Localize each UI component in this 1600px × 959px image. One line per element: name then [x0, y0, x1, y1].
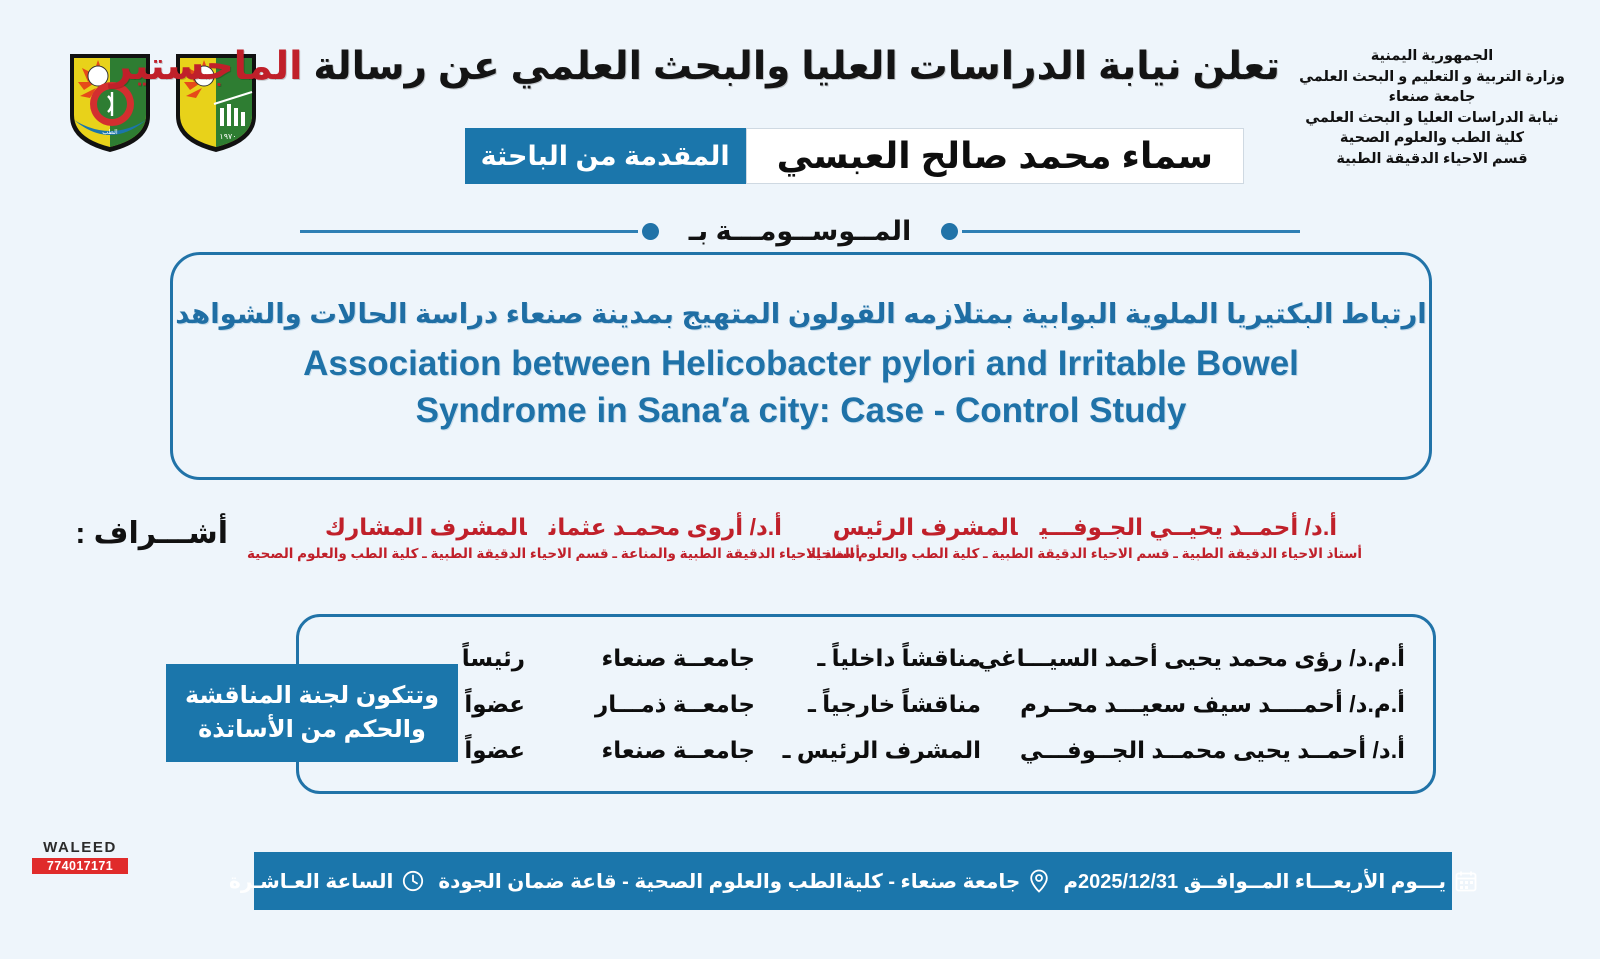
committee-row: أ.د/ أحمــد يحيى محمــد الجــوفـــي المش… [319, 727, 1405, 773]
divider-dot-left [642, 223, 659, 240]
committee-member-role: المشرف الرئيس ـ [755, 737, 1005, 764]
main-supervisor-role: المشرف الرئيس [833, 514, 1018, 540]
clock-icon [402, 870, 424, 892]
researcher-name: سماء محمد صالح العبسي [746, 128, 1244, 184]
thesis-title-box: ارتباط البكتيريا الملوية البوابية بمتلاز… [170, 252, 1432, 480]
committee-label-box: وتتكون لجنة المناقشة والحكم من الأساتذة [166, 664, 458, 762]
supervision-label: أشـــراف : [75, 516, 228, 551]
co-supervisor-affiliation: أستاذ الاحياء الدقيقة الطبية والمناعة ـ … [247, 546, 860, 562]
committee-box: أ.م.د/ رؤى محمد يحيى أحمد السيـــاغي منا… [296, 614, 1436, 794]
committee-member-name: أ.م.د/ رؤى محمد يحيى أحمد السيـــاغي [1005, 645, 1405, 672]
co-supervisor-block: أ.د/ أروى محمـد عثمانالمشرف المشارك أستا… [247, 514, 860, 562]
thesis-title-arabic: ارتباط البكتيريا الملوية البوابية بمتلاز… [175, 298, 1426, 330]
headline-degree-highlight: الماجستير [110, 45, 303, 88]
titled-as-label: المــوســومـــة بـ [663, 216, 937, 247]
ministry-line-1: وزارة التربية و التعليم و البحث العلمي [1282, 67, 1582, 88]
designer-watermark: WALEED 774017171 [32, 840, 128, 874]
event-details-bar: يـــوم الأربعـــاء المــوافــق 2025/12/3… [254, 852, 1452, 910]
ministry-line-4: كلية الطب والعلوم الصحية [1282, 128, 1582, 149]
event-date-text: يـــوم الأربعـــاء المــوافــق 2025/12/3… [1063, 869, 1446, 894]
main-supervisor-name-row: أ.د/ أحمــد يحيــي الجـوفـــيالمشرف الرئ… [808, 514, 1362, 541]
co-supervisor-role: المشرف المشارك [325, 514, 527, 540]
divider-line-right [962, 230, 1300, 233]
committee-member-university: جامعــة ذمـــار [525, 691, 755, 718]
committee-member-name: أ.د/ أحمــد يحيى محمــد الجــوفـــي [1005, 737, 1405, 764]
poster-root: جامعة ١٩٧٠ [0, 0, 1600, 959]
ministry-line-5: قسم الاحياء الدقيقة الطبية [1282, 149, 1582, 170]
committee-member-university: جامعــة صنعاء [525, 645, 755, 672]
event-time-segment: الساعة العـاشـرة [229, 869, 424, 894]
committee-row: أ.م.د/ أحمــــد سيف سعيـــد محــرم مناقش… [319, 681, 1405, 727]
researcher-label: المقدمة من الباحثة [465, 128, 746, 184]
committee-member-name: أ.م.د/ أحمــــد سيف سعيـــد محــرم [1005, 691, 1405, 718]
event-date-segment: يـــوم الأربعـــاء المــوافــق 2025/12/3… [1063, 869, 1477, 894]
calendar-icon [1455, 870, 1477, 892]
location-pin-icon [1029, 869, 1049, 893]
committee-member-role: مناقشاً خارجياً ـ [755, 691, 1005, 718]
event-venue-segment: جامعة صنعاء - كليةالطب والعلوم الصحية - … [438, 869, 1049, 894]
co-supervisor-name: أ.د/ أروى محمـد عثمان [549, 514, 782, 540]
headline-prefix: تعلن نيابة الدراسات العليا والبحث العلمي… [302, 45, 1280, 88]
ministry-line-3: نيابة الدراسات العليا و البحث العلمي [1282, 108, 1582, 129]
event-venue-text: جامعة صنعاء - كليةالطب والعلوم الصحية - … [438, 869, 1020, 894]
ministry-line-0: الجمهورية اليمنية [1282, 46, 1582, 67]
main-supervisor-affiliation: أستاذ الاحياء الدقيقة الطبية ـ قسم الاحي… [808, 546, 1362, 562]
svg-text:١٩٧٠: ١٩٧٠ [219, 132, 236, 141]
thesis-title-english: Association between Helicobacter pylori … [303, 340, 1299, 435]
committee-row: أ.م.د/ رؤى محمد يحيى أحمد السيـــاغي منا… [319, 635, 1405, 681]
thesis-title-english-line2: Syndrome in Sana′a city: Case - Control … [303, 387, 1299, 434]
designer-phone: 774017171 [32, 858, 128, 874]
ministry-affiliation-block: الجمهورية اليمنية وزارة التربية و التعلي… [1282, 46, 1582, 169]
designer-name: WALEED [32, 840, 128, 857]
researcher-bar: سماء محمد صالح العبسي المقدمة من الباحثة [465, 128, 1244, 184]
co-supervisor-name-row: أ.د/ أروى محمـد عثمانالمشرف المشارك [247, 514, 860, 541]
titled-as-divider: المــوســومـــة بـ [300, 216, 1300, 247]
main-supervisor-name: أ.د/ أحمــد يحيــي الجـوفـــي [1040, 514, 1338, 540]
ministry-line-2: جامعة صنعاء [1282, 87, 1582, 108]
main-supervisor-block: أ.د/ أحمــد يحيــي الجـوفـــيالمشرف الرئ… [808, 514, 1362, 562]
divider-dot-right [941, 223, 958, 240]
committee-member-university: جامعــة صنعاء [525, 737, 755, 764]
divider-line-left [300, 230, 638, 233]
committee-member-role: مناقشاً داخلياً ـ [755, 645, 1005, 672]
committee-label-line2: والحكم من الأساتذة [198, 713, 426, 747]
announcement-headline: تعلن نيابة الدراسات العليا والبحث العلمي… [310, 44, 1280, 89]
event-time-text: الساعة العـاشـرة [229, 869, 393, 894]
svg-text:الطب: الطب [102, 128, 118, 136]
committee-label-line1: وتتكون لجنة المناقشة [185, 679, 439, 713]
thesis-title-english-line1: Association between Helicobacter pylori … [303, 340, 1299, 387]
